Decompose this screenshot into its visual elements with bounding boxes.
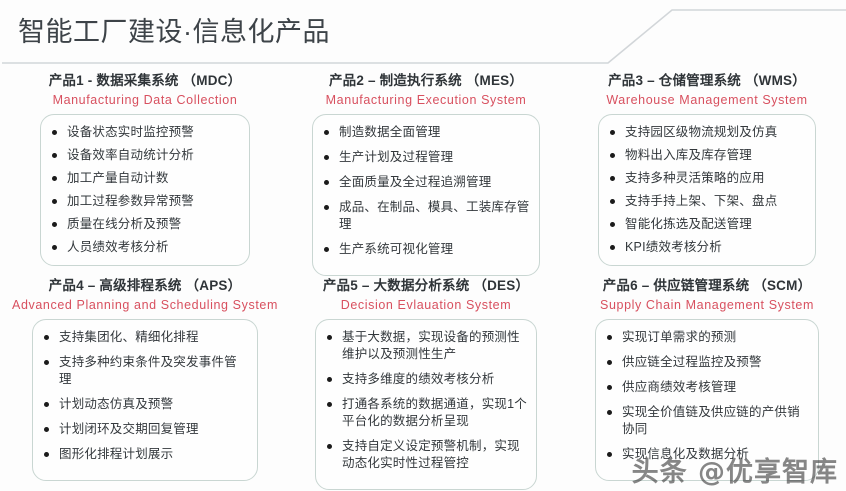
product-card-scm: 实现订单需求的预测 供应链全过程监控及预警 供应商绩效考核管理 实现全价值链及供… [595,319,819,481]
product-subtitle-scm: Supply Chain Management System [566,296,846,314]
list-item-label: 基于大数据，实现设备的预测性维护以及预测性生产 [342,330,520,361]
list-item-label: KPI绩效考核分析 [625,240,722,254]
feature-list-scm: 实现订单需求的预测 供应链全过程监控及预警 供应商绩效考核管理 实现全价值链及供… [602,329,810,463]
list-item: 图形化排程计划展示 [39,446,249,463]
feature-list-mes: 制造数据全面管理 生产计划及过程管理 全面质量及全过程追溯管理 成品、在制品、模… [319,124,531,258]
product-card-mes: 制造数据全面管理 生产计划及过程管理 全面质量及全过程追溯管理 成品、在制品、模… [312,114,540,276]
product-title-mes: 产品2 – 制造执行系统 （MES） [285,72,567,90]
bullet-dot-icon [52,245,57,250]
bullet-dot-icon [610,130,615,135]
feature-list-des: 基于大数据，实现设备的预测性维护以及预测性生产 支持多维度的绩效考核分析 打通各… [322,329,528,472]
list-item-label: 计划闭环及交期回复管理 [59,422,199,436]
bullet-dot-icon [52,130,57,135]
product-card-mdc: 设备状态实时监控预警 设备效率自动统计分析 加工产量自动计数 加工过程参数异常预… [40,114,250,266]
list-item: 支持集团化、精细化排程 [39,329,249,346]
list-item: 加工过程参数异常预警 [47,193,241,210]
list-item-label: 支持多种约束条件及突发事件管理 [59,355,237,386]
list-item: 计划闭环及交期回复管理 [39,421,249,438]
bullet-dot-icon [327,402,332,407]
list-item-label: 实现信息化及数据分析 [622,447,749,461]
product-title-mdc: 产品1 - 数据采集系统 （MDC） [4,72,286,90]
list-item-label: 打通各系统的数据通道，实现1个平台化的数据分析呈现 [342,397,527,428]
bullet-dot-icon [610,245,615,250]
list-item: 计划动态仿真及预警 [39,396,249,413]
bullet-dot-icon [327,335,332,340]
list-item-label: 生产计划及过程管理 [339,150,453,164]
product-cell-mdc: 产品1 - 数据采集系统 （MDC） Manufacturing Data Co… [4,72,286,266]
slide-canvas: 智能工厂建设·信息化产品 产品1 - 数据采集系统 （MDC） Manufact… [0,0,846,491]
bullet-dot-icon [324,247,329,252]
bullet-dot-icon [607,335,612,340]
list-item-label: 全面质量及全过程追溯管理 [339,175,491,189]
product-card-des: 基于大数据，实现设备的预测性维护以及预测性生产 支持多维度的绩效考核分析 打通各… [315,319,537,490]
product-title-aps: 产品4 – 高级排程系统 （APS） [4,277,286,295]
product-subtitle-des: Decision Evlauation System [285,296,567,314]
list-item: 供应商绩效考核管理 [602,379,810,396]
product-card-wms: 支持园区级物流规划及仿真 物料出入库及库存管理 支持多种灵活策略的应用 支持手持… [598,114,816,266]
bullet-dot-icon [44,360,49,365]
bullet-dot-icon [327,377,332,382]
bullet-dot-icon [610,199,615,204]
list-item-label: 设备效率自动统计分析 [67,148,194,162]
bullet-dot-icon [610,222,615,227]
list-item-label: 加工过程参数异常预警 [67,194,194,208]
bullet-dot-icon [610,176,615,181]
list-item: 设备效率自动统计分析 [47,147,241,164]
list-item: 全面质量及全过程追溯管理 [319,174,531,191]
bullet-dot-icon [607,452,612,457]
list-item: 成品、在制品、模具、工装库存管理 [319,199,531,233]
product-grid: 产品1 - 数据采集系统 （MDC） Manufacturing Data Co… [0,72,846,491]
bullet-dot-icon [44,335,49,340]
bullet-dot-icon [44,402,49,407]
list-item-label: 人员绩效考核分析 [67,240,169,254]
product-subtitle-mes: Manufacturing Execution System [285,91,567,109]
bullet-dot-icon [44,452,49,457]
list-item: 生产计划及过程管理 [319,149,531,166]
product-cell-mes: 产品2 – 制造执行系统 （MES） Manufacturing Executi… [285,72,567,276]
list-item-label: 支持多种灵活策略的应用 [625,171,765,185]
bullet-dot-icon [44,427,49,432]
list-item-label: 生产系统可视化管理 [339,242,453,256]
list-item: 生产系统可视化管理 [319,241,531,258]
list-item: 实现信息化及数据分析 [602,446,810,463]
bullet-dot-icon [607,410,612,415]
bullet-dot-icon [607,385,612,390]
list-item: 制造数据全面管理 [319,124,531,141]
feature-list-wms: 支持园区级物流规划及仿真 物料出入库及库存管理 支持多种灵活策略的应用 支持手持… [605,124,807,256]
bullet-dot-icon [52,176,57,181]
list-item: 人员绩效考核分析 [47,239,241,256]
list-item-label: 质量在线分析及预警 [67,217,181,231]
list-item: 打通各系统的数据通道，实现1个平台化的数据分析呈现 [322,396,528,430]
product-cell-scm: 产品6 – 供应链管理系统 （SCM） Supply Chain Managem… [566,277,846,481]
list-item-label: 供应链全过程监控及预警 [622,355,762,369]
list-item-label: 设备状态实时监控预警 [67,125,194,139]
list-item: 支持手持上架、下架、盘点 [605,193,807,210]
list-item-label: 支持自定义设定预警机制，实现动态化实时性过程管控 [342,439,520,470]
list-item-label: 支持手持上架、下架、盘点 [625,194,777,208]
product-subtitle-mdc: Manufacturing Data Collection [4,91,286,109]
list-item: 加工产量自动计数 [47,170,241,187]
list-item: 智能化拣选及配送管理 [605,216,807,233]
bullet-dot-icon [324,130,329,135]
bullet-dot-icon [52,199,57,204]
list-item-label: 支持多维度的绩效考核分析 [342,372,494,386]
list-item-label: 支持集团化、精细化排程 [59,330,199,344]
list-item-label: 实现订单需求的预测 [622,330,736,344]
list-item-label: 供应商绩效考核管理 [622,380,736,394]
list-item-label: 智能化拣选及配送管理 [625,217,752,231]
list-item: 物料出入库及库存管理 [605,147,807,164]
list-item-label: 实现全价值链及供应链的产供销协同 [622,405,800,436]
page-title: 智能工厂建设·信息化产品 [18,12,330,52]
product-title-scm: 产品6 – 供应链管理系统 （SCM） [566,277,846,295]
list-item: 供应链全过程监控及预警 [602,354,810,371]
list-item-label: 物料出入库及库存管理 [625,148,752,162]
list-item: 质量在线分析及预警 [47,216,241,233]
list-item-label: 成品、在制品、模具、工装库存管理 [339,200,530,231]
list-item: 支持多种约束条件及突发事件管理 [39,354,249,388]
bullet-dot-icon [324,205,329,210]
bullet-dot-icon [607,360,612,365]
product-card-aps: 支持集团化、精细化排程 支持多种约束条件及突发事件管理 计划动态仿真及预警 计划… [32,319,258,481]
list-item: 支持园区级物流规划及仿真 [605,124,807,141]
list-item-label: 支持园区级物流规划及仿真 [625,125,777,139]
product-subtitle-wms: Warehouse Management System [566,91,846,109]
product-cell-des: 产品5 – 大数据分析系统 （DES） Decision Evlauation … [285,277,567,490]
list-item: 实现全价值链及供应链的产供销协同 [602,404,810,438]
bullet-dot-icon [324,180,329,185]
list-item-label: 加工产量自动计数 [67,171,169,185]
product-cell-aps: 产品4 – 高级排程系统 （APS） Advanced Planning and… [4,277,286,481]
bullet-dot-icon [52,222,57,227]
list-item: 支持自定义设定预警机制，实现动态化实时性过程管控 [322,438,528,472]
bullet-dot-icon [327,444,332,449]
list-item: 支持多维度的绩效考核分析 [322,371,528,388]
product-title-wms: 产品3 – 仓储管理系统 （WMS） [566,72,846,90]
product-title-des: 产品5 – 大数据分析系统 （DES） [285,277,567,295]
bullet-dot-icon [610,153,615,158]
list-item-label: 计划动态仿真及预警 [59,397,173,411]
product-cell-wms: 产品3 – 仓储管理系统 （WMS） Warehouse Management … [566,72,846,266]
bullet-dot-icon [324,155,329,160]
list-item-label: 图形化排程计划展示 [59,447,173,461]
list-item: 实现订单需求的预测 [602,329,810,346]
product-subtitle-aps: Advanced Planning and Scheduling System [4,296,286,314]
list-item: 基于大数据，实现设备的预测性维护以及预测性生产 [322,329,528,363]
list-item: KPI绩效考核分析 [605,239,807,256]
list-item-label: 制造数据全面管理 [339,125,441,139]
feature-list-mdc: 设备状态实时监控预警 设备效率自动统计分析 加工产量自动计数 加工过程参数异常预… [47,124,241,256]
list-item: 支持多种灵活策略的应用 [605,170,807,187]
list-item: 设备状态实时监控预警 [47,124,241,141]
bullet-dot-icon [52,153,57,158]
feature-list-aps: 支持集团化、精细化排程 支持多种约束条件及突发事件管理 计划动态仿真及预警 计划… [39,329,249,463]
